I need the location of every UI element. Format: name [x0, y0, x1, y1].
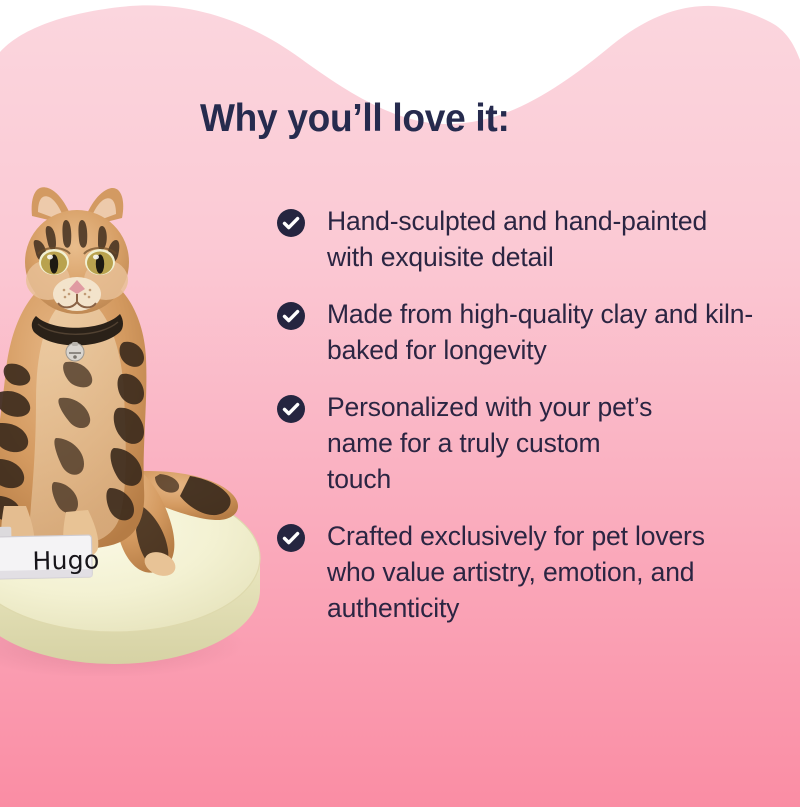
benefit-text: Crafted exclusively for pet lovers who v… [327, 518, 757, 626]
check-circle-icon [276, 523, 306, 553]
check-circle-icon [276, 208, 306, 238]
check-circle-icon [276, 301, 306, 331]
cat-figurine-image [0, 176, 274, 676]
benefit-text: Personalized with your pet’s name for a … [327, 389, 657, 497]
list-item: Crafted exclusively for pet lovers who v… [276, 518, 776, 626]
check-circle-icon [276, 394, 306, 424]
benefits-list: Hand-sculpted and hand-painted with exqu… [276, 203, 776, 647]
cat-head [25, 187, 129, 314]
list-item: Made from high-quality clay and kiln-bak… [276, 296, 776, 368]
benefit-text: Hand-sculpted and hand-painted with exqu… [327, 203, 757, 275]
page-title: Why you’ll love it: [200, 97, 609, 141]
cat-muzzle [53, 277, 101, 311]
list-item: Hand-sculpted and hand-painted with exqu… [276, 203, 776, 275]
benefit-text: Made from high-quality clay and kiln-bak… [327, 296, 757, 368]
product-feature-card: Hugo Why you’ll love it: Hand-sculpted a… [0, 0, 800, 807]
list-item: Personalized with your pet’s name for a … [276, 389, 776, 497]
